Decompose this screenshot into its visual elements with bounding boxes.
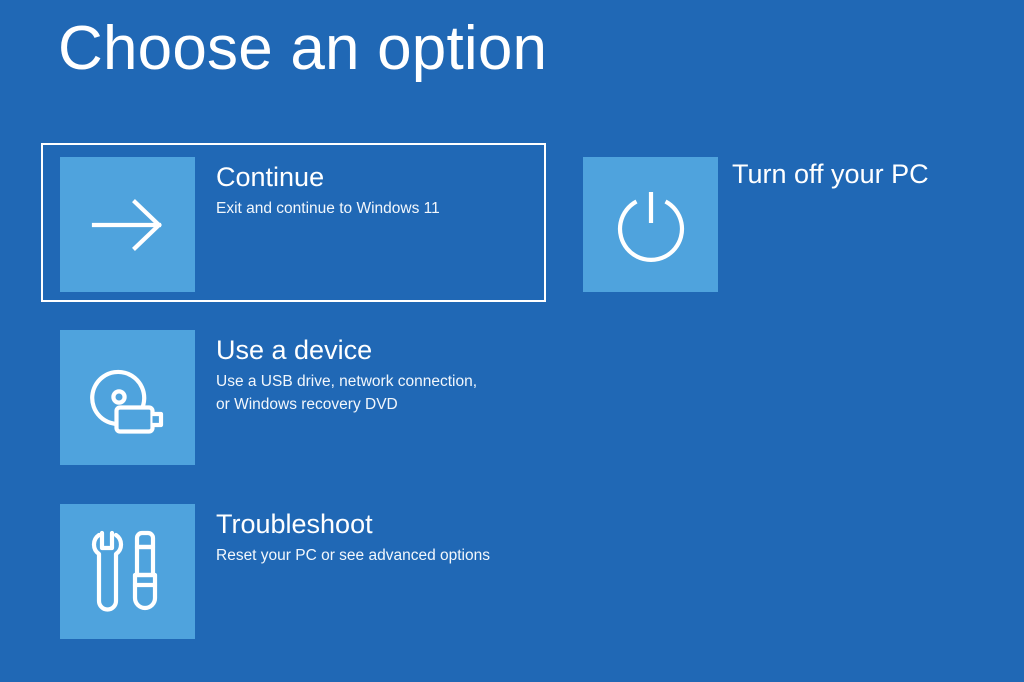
option-troubleshoot[interactable]: Troubleshoot Reset your PC or see advanc… (60, 504, 490, 639)
option-continue-icon-tile (60, 157, 195, 292)
wrench-screwdriver-icon (89, 529, 167, 615)
power-icon (610, 184, 692, 266)
option-troubleshoot-text: Troubleshoot Reset your PC or see advanc… (216, 504, 490, 568)
option-use-a-device-subtitle: Use a USB drive, network connection, or … (216, 371, 477, 417)
option-continue[interactable]: Continue Exit and continue to Windows 11 (60, 157, 440, 292)
option-continue-subtitle: Exit and continue to Windows 11 (216, 198, 440, 221)
arrow-right-icon (90, 197, 166, 253)
option-troubleshoot-icon-tile (60, 504, 195, 639)
option-use-a-device-icon-tile (60, 330, 195, 465)
option-troubleshoot-title: Troubleshoot (216, 509, 490, 540)
option-turn-off-your-pc-text: Turn off your PC (732, 157, 929, 190)
disc-usb-icon (85, 357, 171, 439)
option-turn-off-your-pc-icon-tile (583, 157, 718, 292)
option-use-a-device-text: Use a device Use a USB drive, network co… (216, 330, 477, 417)
option-turn-off-your-pc[interactable]: Turn off your PC (583, 157, 929, 292)
option-use-a-device-title: Use a device (216, 335, 477, 366)
option-continue-text: Continue Exit and continue to Windows 11 (216, 157, 440, 221)
option-use-a-device[interactable]: Use a device Use a USB drive, network co… (60, 330, 477, 465)
option-troubleshoot-subtitle: Reset your PC or see advanced options (216, 545, 490, 568)
option-continue-title: Continue (216, 162, 440, 193)
page-title: Choose an option (58, 16, 547, 81)
recovery-options-screen: Choose an option Continue Exit and conti… (0, 0, 1024, 682)
option-turn-off-your-pc-title: Turn off your PC (732, 159, 929, 190)
